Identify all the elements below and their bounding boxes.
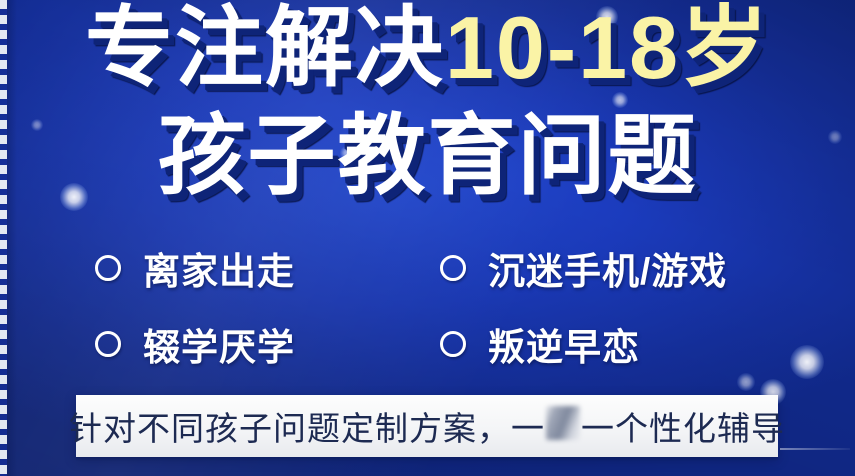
torn-edge-shadow [7,0,17,476]
headline-line-1-white: 专注解决 [85,0,445,97]
circle-outline-icon [440,331,466,357]
issue-label: 辍学厌学 [143,317,295,371]
issue-row: 辍学厌学 叛逆早恋 [95,306,795,382]
sparkle-dot [790,345,824,379]
tagline-text-before: 针对不同孩子问题定制方案，一 [69,402,545,450]
banner-drop-shadow [76,457,778,461]
issue-item-runaway[interactable]: 离家出走 [95,241,440,295]
circle-outline-icon [95,331,121,357]
tagline-banner: 针对不同孩子问题定制方案，一 一个性化辅导 [76,395,778,457]
decorative-hairline [780,448,850,450]
issue-list: 离家出走 沉迷手机/游戏 辍学厌学 叛逆早恋 [95,230,795,382]
tagline-text-after: 一个性化辅导 [581,402,785,450]
headline-line-1-yellow: 10-18岁 [445,0,770,97]
issue-label: 离家出走 [143,241,295,295]
left-perforated-edge [0,0,7,476]
circle-outline-icon [440,255,466,281]
issue-label: 叛逆早恋 [488,317,640,371]
tagline-text: 针对不同孩子问题定制方案，一 一个性化辅导 [69,402,785,450]
issue-row: 离家出走 沉迷手机/游戏 [95,230,795,306]
promo-poster: 专注解决10-18岁 孩子教育问题 离家出走 沉迷手机/游戏 辍学厌学 叛逆早恋 [0,0,855,476]
circle-outline-icon [95,255,121,281]
issue-label: 沉迷手机/游戏 [488,241,727,295]
headline-line-1: 专注解决10-18岁 [0,0,855,100]
issue-item-rebellion[interactable]: 叛逆早恋 [440,317,795,371]
redacted-character [546,406,580,440]
issue-item-phone-addiction[interactable]: 沉迷手机/游戏 [440,241,795,295]
headline-line-2: 孩子教育问题 [0,104,855,208]
issue-item-dropout[interactable]: 辍学厌学 [95,317,440,371]
